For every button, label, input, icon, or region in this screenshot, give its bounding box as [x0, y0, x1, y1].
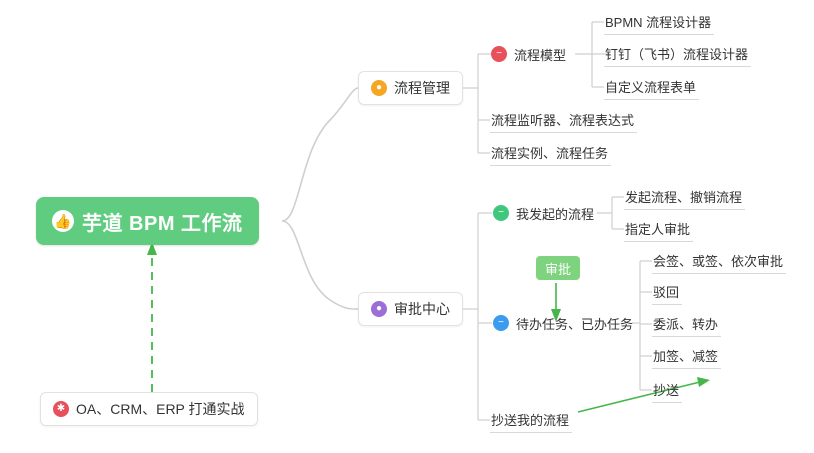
node-label: 待办任务、已办任务 [516, 314, 633, 333]
node-process-model-label: 流程模型 [514, 45, 566, 64]
mindmap-canvas: 👍 芋道 BPM 工作流 ● 流程管理 − 流程模型 BPMN 流程设计器 钉钉… [0, 0, 814, 453]
leaf-label: 抄送我的流程 [491, 410, 569, 429]
leaf-label: 自定义流程表单 [605, 77, 696, 96]
tag-label: 审批 [545, 259, 571, 278]
footnote-node[interactable]: ✱ OA、CRM、ERP 打通实战 [40, 392, 258, 426]
branch-node-label: 流程管理 [394, 78, 450, 98]
minus-circle-icon: − [493, 315, 509, 331]
minus-circle-icon: − [491, 46, 507, 62]
root-node-label: 芋道 BPM 工作流 [82, 207, 243, 236]
leaf-cc-to-me-process[interactable]: 抄送我的流程 [490, 407, 572, 433]
leaf-custom-form[interactable]: 自定义流程表单 [604, 74, 699, 100]
branch-node-approval-center[interactable]: ● 审批中心 [358, 292, 463, 326]
leaf-reject[interactable]: 驳回 [652, 279, 682, 305]
star-circle-icon: ✱ [53, 401, 69, 417]
leaf-label: BPMN 流程设计器 [605, 12, 711, 31]
leaf-process-instance[interactable]: 流程实例、流程任务 [490, 140, 611, 166]
tag-approval[interactable]: 审批 [536, 256, 580, 280]
branch-node-label: 审批中心 [394, 299, 450, 319]
leaf-bpmn-designer[interactable]: BPMN 流程设计器 [604, 9, 714, 35]
leaf-label: 指定人审批 [625, 219, 690, 238]
leaf-process-listener[interactable]: 流程监听器、流程表达式 [490, 107, 637, 133]
minus-circle-icon: − [493, 205, 509, 221]
leaf-add-remove-sign[interactable]: 加签、减签 [652, 343, 721, 369]
location-pin-icon: ● [371, 80, 387, 96]
leaf-label: 驳回 [653, 282, 679, 301]
node-label: 我发起的流程 [516, 204, 594, 223]
leaf-start-cancel-process[interactable]: 发起流程、撤销流程 [624, 184, 745, 210]
node-process-model[interactable]: − 流程模型 [490, 41, 569, 67]
node-my-initiated-process[interactable]: − 我发起的流程 [492, 200, 597, 226]
leaf-assign-approver[interactable]: 指定人审批 [624, 216, 693, 242]
leaf-label: 委派、转办 [653, 314, 718, 333]
leaf-label: 钉钉（飞书）流程设计器 [605, 44, 748, 63]
thumbs-up-icon: 👍 [52, 210, 74, 232]
branch-node-process-management[interactable]: ● 流程管理 [358, 71, 463, 105]
leaf-label: 流程实例、流程任务 [491, 143, 608, 162]
node-todo-done-tasks[interactable]: − 待办任务、已办任务 [492, 310, 636, 336]
leaf-delegate-transfer[interactable]: 委派、转办 [652, 311, 721, 337]
leaf-label: 会签、或签、依次审批 [653, 251, 783, 270]
leaf-label: 流程监听器、流程表达式 [491, 110, 634, 129]
leaf-cc[interactable]: 抄送 [652, 377, 682, 403]
leaf-countersign[interactable]: 会签、或签、依次审批 [652, 248, 786, 274]
footnote-label: OA、CRM、ERP 打通实战 [76, 399, 245, 419]
root-node[interactable]: 👍 芋道 BPM 工作流 [36, 197, 259, 245]
leaf-label: 发起流程、撤销流程 [625, 187, 742, 206]
leaf-dingtalk-designer[interactable]: 钉钉（飞书）流程设计器 [604, 41, 751, 67]
leaf-label: 加签、减签 [653, 346, 718, 365]
leaf-label: 抄送 [653, 380, 679, 399]
chat-bubble-icon: ● [371, 301, 387, 317]
